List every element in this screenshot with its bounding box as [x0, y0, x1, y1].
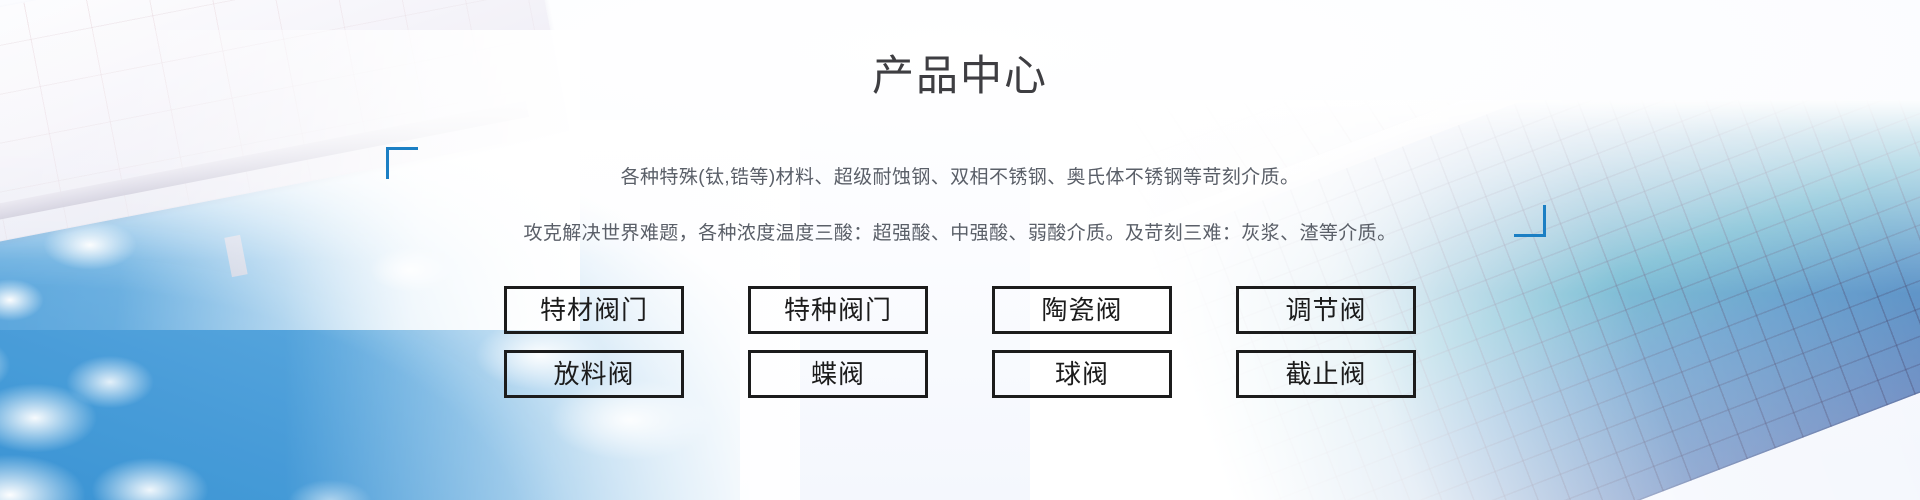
category-row-1: 特材阀门 特种阀门 陶瓷阀 调节阀 [0, 286, 1920, 334]
category-button-ball-valve[interactable]: 球阀 [992, 350, 1172, 398]
category-button-control-valve[interactable]: 调节阀 [1236, 286, 1416, 334]
description-line-2: 攻克解决世界难题，各种浓度温度三酸：超强酸、中强酸、弱酸介质。及苛刻三难：灰浆、… [0, 206, 1920, 262]
category-button-techai-valve[interactable]: 特材阀门 [504, 286, 684, 334]
category-row-2: 放料阀 蝶阀 球阀 截止阀 [0, 350, 1920, 398]
description-block: 各种特殊(钛,锆等)材料、超级耐蚀钢、双相不锈钢、奥氏体不锈钢等苛刻介质。 攻克… [0, 150, 1920, 262]
category-button-grid: 特材阀门 特种阀门 陶瓷阀 调节阀 放料阀 蝶阀 球阀 截止阀 [0, 286, 1920, 414]
product-center-banner: 产品中心 各种特殊(钛,锆等)材料、超级耐蚀钢、双相不锈钢、奥氏体不锈钢等苛刻介… [0, 0, 1920, 500]
category-button-special-valve[interactable]: 特种阀门 [748, 286, 928, 334]
category-button-discharge-valve[interactable]: 放料阀 [504, 350, 684, 398]
category-button-butterfly-valve[interactable]: 蝶阀 [748, 350, 928, 398]
page-title: 产品中心 [0, 48, 1920, 105]
description-line-1: 各种特殊(钛,锆等)材料、超级耐蚀钢、双相不锈钢、奥氏体不锈钢等苛刻介质。 [0, 150, 1920, 206]
category-button-globe-valve[interactable]: 截止阀 [1236, 350, 1416, 398]
category-button-ceramic-valve[interactable]: 陶瓷阀 [992, 286, 1172, 334]
banner-content: 产品中心 各种特殊(钛,锆等)材料、超级耐蚀钢、双相不锈钢、奥氏体不锈钢等苛刻介… [0, 0, 1920, 500]
